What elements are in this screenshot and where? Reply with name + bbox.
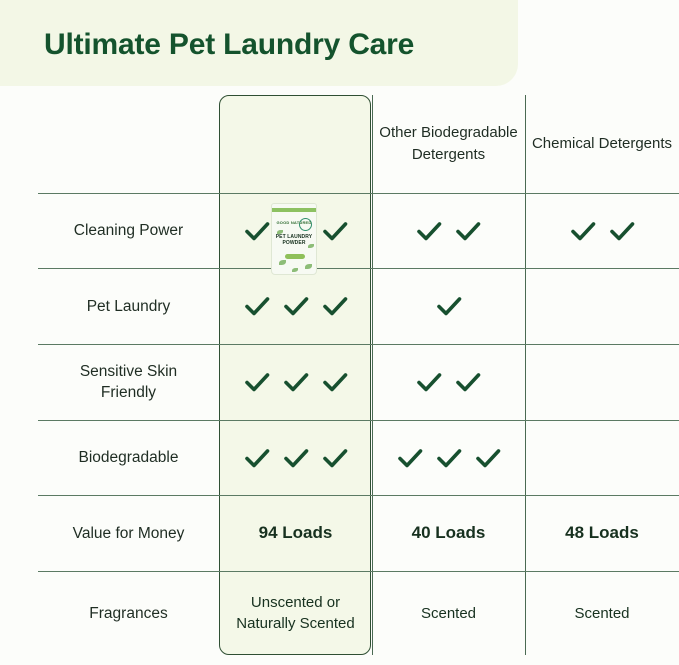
check-group bbox=[434, 291, 464, 321]
cell-value-text: 40 Loads bbox=[412, 522, 486, 544]
product-pouch-illustration: GOOD NATURED PET LAUNDRY POWDER bbox=[271, 203, 317, 275]
pouch-pill-label bbox=[285, 254, 305, 259]
row-label-pet-laundry: Pet Laundry bbox=[38, 268, 219, 344]
column-header-label: Chemical Detergents bbox=[532, 133, 672, 155]
check-icon bbox=[320, 443, 350, 473]
title-banner: Ultimate Pet Laundry Care bbox=[0, 0, 518, 86]
check-group bbox=[568, 216, 637, 246]
page-title: Ultimate Pet Laundry Care bbox=[44, 28, 414, 62]
pouch-top-band bbox=[272, 208, 316, 212]
leaf-icon bbox=[279, 260, 286, 265]
cell-value-text: Scented bbox=[574, 603, 629, 624]
check-group bbox=[395, 443, 503, 473]
cell-value-text: 48 Loads bbox=[565, 522, 639, 544]
cell-sensitive-skin-chemical bbox=[525, 344, 679, 420]
cell-sensitive-skin-other bbox=[372, 344, 525, 420]
row-label-text: Fragrances bbox=[89, 603, 167, 624]
cell-value-text: Scented bbox=[421, 603, 476, 624]
check-icon bbox=[320, 367, 350, 397]
check-group bbox=[242, 367, 350, 397]
row-label-text: Sensitive Skin Friendly bbox=[64, 361, 194, 403]
cell-value-text: Unscented or Naturally Scented bbox=[228, 592, 363, 634]
column-header-label: Other Biodegradable Detergents bbox=[372, 122, 525, 166]
cell-cleaning-power-chemical bbox=[525, 193, 679, 268]
check-icon bbox=[414, 367, 444, 397]
cell-cleaning-power-other bbox=[372, 193, 525, 268]
check-group bbox=[242, 443, 350, 473]
cell-sensitive-skin-product bbox=[219, 344, 372, 420]
row-label-text: Value for Money bbox=[73, 523, 185, 544]
row-label-cleaning-power: Cleaning Power bbox=[38, 193, 219, 268]
column-header-other-biodegradable: Other Biodegradable Detergents bbox=[372, 95, 525, 193]
check-group bbox=[242, 291, 350, 321]
check-icon bbox=[281, 443, 311, 473]
column-header-chemical: Chemical Detergents bbox=[525, 95, 679, 193]
check-icon bbox=[473, 443, 503, 473]
cell-pet-laundry-product bbox=[219, 268, 372, 344]
cell-biodegradable-product bbox=[219, 420, 372, 495]
check-icon bbox=[242, 443, 272, 473]
check-icon bbox=[395, 443, 425, 473]
row-label-sensitive-skin-friendly: Sensitive Skin Friendly bbox=[38, 344, 219, 420]
cell-biodegradable-chemical bbox=[525, 420, 679, 495]
check-icon bbox=[434, 443, 464, 473]
check-icon bbox=[242, 216, 272, 246]
check-icon bbox=[242, 367, 272, 397]
check-icon bbox=[453, 216, 483, 246]
row-label-value-for-money: Value for Money bbox=[38, 495, 219, 571]
cell-fragrances-product: Unscented or Naturally Scented bbox=[219, 571, 372, 655]
row-label-text: Cleaning Power bbox=[74, 220, 183, 241]
check-icon bbox=[607, 216, 637, 246]
cell-pet-laundry-chemical bbox=[525, 268, 679, 344]
check-icon bbox=[414, 216, 444, 246]
check-group bbox=[414, 216, 483, 246]
product-image: GOOD NATURED PET LAUNDRY POWDER bbox=[271, 203, 317, 275]
cell-pet-laundry-other bbox=[372, 268, 525, 344]
pouch-brand-text: GOOD NATURED bbox=[272, 220, 316, 225]
check-group bbox=[414, 367, 483, 397]
check-icon bbox=[281, 367, 311, 397]
cell-fragrances-other: Scented bbox=[372, 571, 525, 655]
check-icon bbox=[242, 291, 272, 321]
check-icon bbox=[320, 216, 350, 246]
cell-fragrances-chemical: Scented bbox=[525, 571, 679, 655]
row-label-text: Biodegradable bbox=[79, 447, 179, 468]
cell-value-for-money-product: 94 Loads bbox=[219, 495, 372, 571]
cell-value-for-money-other: 40 Loads bbox=[372, 495, 525, 571]
leaf-icon bbox=[305, 264, 312, 269]
cell-value-text: 94 Loads bbox=[259, 522, 333, 544]
row-label-biodegradable: Biodegradable bbox=[38, 420, 219, 495]
row-label-text: Pet Laundry bbox=[87, 296, 171, 317]
check-icon bbox=[568, 216, 598, 246]
check-icon bbox=[320, 291, 350, 321]
check-icon bbox=[434, 291, 464, 321]
row-label-fragrances: Fragrances bbox=[38, 571, 219, 655]
leaf-icon bbox=[308, 244, 314, 248]
comparison-table: GOOD NATURED PET LAUNDRY POWDER Other Bi… bbox=[0, 95, 679, 665]
check-icon bbox=[281, 291, 311, 321]
cell-biodegradable-other bbox=[372, 420, 525, 495]
check-icon bbox=[453, 367, 483, 397]
cell-value-for-money-chemical: 48 Loads bbox=[525, 495, 679, 571]
leaf-icon bbox=[292, 268, 298, 272]
